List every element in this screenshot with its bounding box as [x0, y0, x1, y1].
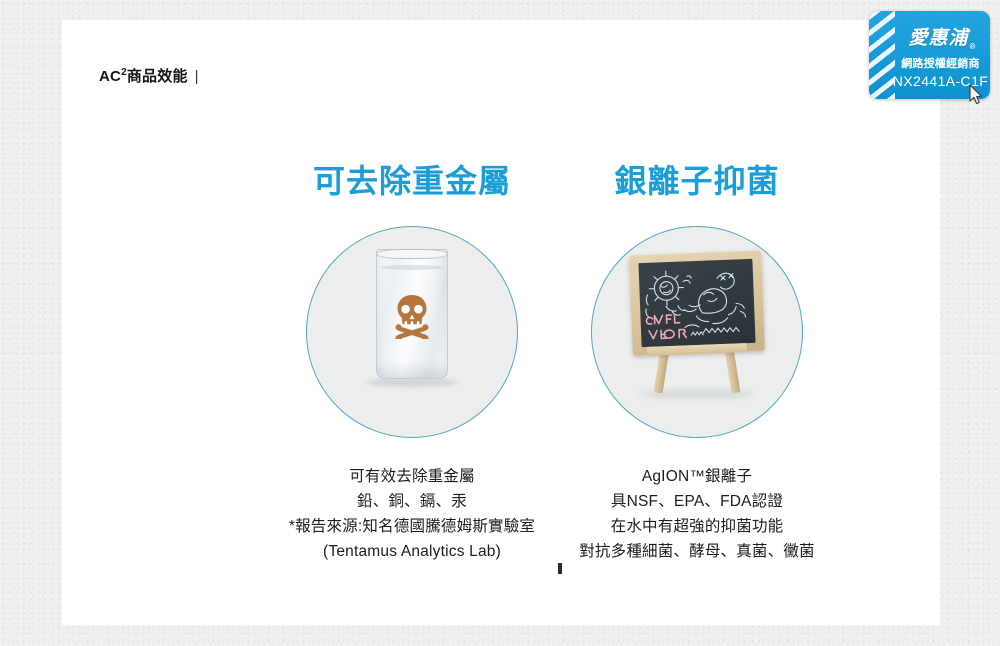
authorized-dealer-badge[interactable]: 愛惠浦® 網路授權經銷商 NX2441A-C1F	[869, 11, 990, 99]
chalkboard-frame	[629, 251, 765, 356]
caption-line: 鉛、銅、鎘、汞	[247, 489, 577, 514]
feature-column-heavy-metal: 可去除重金屬	[247, 160, 577, 564]
chalkboard-surface	[638, 259, 755, 347]
feature-caption-heavy-metal: 可有效去除重金屬 鉛、銅、鎘、汞 *報告來源:知名德國騰德姆斯實驗室 (Tent…	[247, 464, 577, 564]
caption-line: 在水中有超強的抑菌功能	[532, 514, 862, 539]
chalk-germ-drawings	[638, 259, 755, 347]
page-title-divider: |	[195, 68, 199, 85]
badge-brand-logo: 愛惠浦®	[895, 23, 990, 51]
easel-leg-right	[725, 349, 741, 394]
glass-of-water-icon	[376, 249, 448, 383]
chalkboard-easel-icon	[627, 253, 767, 393]
slide-panel: AC2商品效能| 可去除重金屬	[62, 20, 940, 625]
badge-subtitle: 網路授權經銷商	[891, 55, 990, 71]
feature-image-heavy-metal	[306, 226, 518, 438]
caption-line: 具NSF、EPA、FDA認證	[532, 489, 862, 514]
page-title-rest: 商品效能	[127, 68, 188, 85]
glass-shadow	[366, 378, 458, 387]
page-title-main: AC	[99, 68, 121, 85]
text-caret-artifact	[558, 563, 562, 574]
feature-heading-heavy-metal: 可去除重金屬	[247, 160, 577, 202]
feature-image-silver-ion	[591, 226, 803, 438]
feature-heading-silver-ion: 銀離子抑菌	[532, 160, 862, 202]
caption-line: 可有效去除重金屬	[247, 464, 577, 489]
glass-rim	[376, 249, 448, 259]
feature-caption-silver-ion: AgION™銀離子 具NSF、EPA、FDA認證 在水中有超強的抑菌功能 對抗多…	[532, 464, 862, 564]
caption-line: 對抗多種細菌、酵母、真菌、黴菌	[532, 539, 862, 564]
badge-brand-text: 愛惠浦	[909, 28, 969, 49]
caption-line: *報告來源:知名德國騰德姆斯實驗室	[247, 514, 577, 539]
page-title: AC2商品效能|	[99, 65, 199, 86]
skull-and-crossbones-icon	[392, 293, 432, 339]
water-surface-line	[380, 265, 444, 270]
badge-model-code: NX2441A-C1F	[891, 73, 990, 89]
caption-line: AgION™銀離子	[532, 464, 862, 489]
registered-trademark-icon: ®	[970, 42, 977, 51]
feature-column-silver-ion: 銀離子抑菌	[532, 160, 862, 564]
caption-line: (Tentamus Analytics Lab)	[247, 539, 577, 564]
